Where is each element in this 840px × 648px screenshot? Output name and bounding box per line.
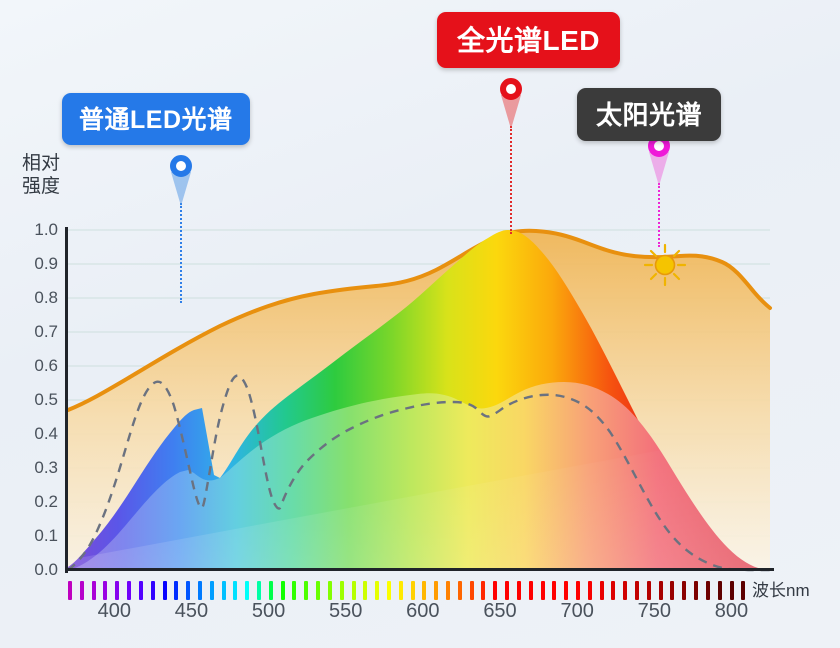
- legend-badge-full-spectrum-led[interactable]: 全光谱LED: [437, 12, 620, 68]
- spectrum-tick: [623, 581, 627, 600]
- spectrum-tick: [387, 581, 391, 600]
- spectrum-tick: [363, 581, 367, 600]
- spectrum-tick: [659, 581, 663, 600]
- y-axis-tick-labels: 0.00.10.20.30.40.50.60.70.80.91.0: [12, 0, 58, 648]
- spectrum-tick: [682, 581, 686, 600]
- y-axis-tick: 0.7: [16, 322, 58, 342]
- x-axis-tick: 550: [329, 600, 362, 623]
- spectrum-tick: [210, 581, 214, 600]
- x-axis-tick: 600: [406, 600, 439, 623]
- spectrum-tick: [257, 581, 261, 600]
- spectrum-tick: [222, 581, 226, 600]
- spectrum-tick: [411, 581, 415, 600]
- spectrum-tick: [151, 581, 155, 600]
- spectrum-tick: [635, 581, 639, 600]
- y-axis-tick: 0.5: [16, 390, 58, 410]
- spectrum-tick: [103, 581, 107, 600]
- spectrum-tick: [163, 581, 167, 600]
- spectrum-tick: [115, 581, 119, 600]
- y-axis-tick: 0.0: [16, 560, 58, 580]
- x-axis-title: 波长nm: [752, 576, 810, 601]
- spectrum-tick: [340, 581, 344, 600]
- spectrum-tick: [245, 581, 249, 600]
- leader-line-full: [510, 126, 512, 234]
- pin-ring-ordinary: [170, 155, 192, 177]
- x-axis-tick: 650: [483, 600, 516, 623]
- spectrum-tick: [588, 581, 592, 600]
- spectrum-tick: [304, 581, 308, 600]
- spectrum-tick: [611, 581, 615, 600]
- y-axis-tick: 0.2: [16, 492, 58, 512]
- spectrum-tick: [564, 581, 568, 600]
- x-axis-tick: 800: [715, 600, 748, 623]
- spectrum-tick: [481, 581, 485, 600]
- spectrum-tick: [139, 581, 143, 600]
- spectrum-tick: [422, 581, 426, 600]
- spectrum-tick: [529, 581, 533, 600]
- legend-badge-ordinary-led[interactable]: 普通LED光谱: [62, 93, 250, 145]
- y-axis-tick: 0.8: [16, 288, 58, 308]
- x-axis-tick-labels: 400450500550600650700750800: [0, 600, 840, 630]
- y-axis-line: [65, 227, 68, 573]
- x-axis-tick: 500: [252, 600, 285, 623]
- pin-tail-ordinary: [171, 172, 191, 206]
- y-axis-tick: 0.1: [16, 526, 58, 546]
- y-axis-tick: 1.0: [16, 220, 58, 240]
- pin-ring-full: [500, 78, 522, 100]
- pin-tail-solar: [649, 152, 669, 186]
- spectrum-tick: [741, 581, 745, 600]
- spectrum-tick: [541, 581, 545, 600]
- spectrum-tick: [375, 581, 379, 600]
- wavelength-spectrum-bar: [68, 580, 746, 600]
- y-axis-tick: 0.9: [16, 254, 58, 274]
- x-axis-tick: 750: [638, 600, 671, 623]
- spectrum-tick: [92, 581, 96, 600]
- y-axis-tick: 0.4: [16, 424, 58, 444]
- spectrum-tick: [446, 581, 450, 600]
- spectrum-tick: [670, 581, 674, 600]
- spectrum-tick: [316, 581, 320, 600]
- spectrum-tick: [292, 581, 296, 600]
- leader-line-solar: [658, 183, 660, 247]
- spectrum-tick: [174, 581, 178, 600]
- x-axis-line: [65, 568, 774, 571]
- spectrum-tick: [127, 581, 131, 600]
- spectrum-tick: [434, 581, 438, 600]
- sun-icon: [643, 243, 687, 287]
- spectrum-tick: [186, 581, 190, 600]
- spectrum-tick: [328, 581, 332, 600]
- spectrum-chart-infographic: 相对 强度 0.00.10.20.30.40.50.60.70.80.91.0 …: [0, 0, 840, 648]
- leader-line-ordinary: [180, 203, 182, 303]
- spectrum-tick: [80, 581, 84, 600]
- spectrum-tick: [399, 581, 403, 600]
- spectrum-tick: [458, 581, 462, 600]
- y-axis-tick: 0.6: [16, 356, 58, 376]
- y-axis-tick: 0.3: [16, 458, 58, 478]
- spectrum-tick: [233, 581, 237, 600]
- spectrum-tick: [718, 581, 722, 600]
- spectrum-tick: [505, 581, 509, 600]
- spectrum-tick: [68, 581, 72, 600]
- x-axis-tick: 450: [175, 600, 208, 623]
- pin-tail-full: [501, 95, 521, 129]
- spectrum-tick: [517, 581, 521, 600]
- spectrum-tick: [706, 581, 710, 600]
- spectrum-tick: [730, 581, 734, 600]
- spectrum-tick: [552, 581, 556, 600]
- x-axis-tick: 700: [560, 600, 593, 623]
- spectrum-tick: [281, 581, 285, 600]
- x-axis-tick: 400: [98, 600, 131, 623]
- spectrum-tick: [470, 581, 474, 600]
- spectrum-tick: [600, 581, 604, 600]
- spectrum-tick: [352, 581, 356, 600]
- spectrum-tick: [493, 581, 497, 600]
- spectrum-tick: [198, 581, 202, 600]
- spectrum-tick: [647, 581, 651, 600]
- spectrum-tick: [576, 581, 580, 600]
- legend-badge-solar-spectrum[interactable]: 太阳光谱: [577, 88, 721, 141]
- spectrum-tick: [694, 581, 698, 600]
- spectrum-tick: [269, 581, 273, 600]
